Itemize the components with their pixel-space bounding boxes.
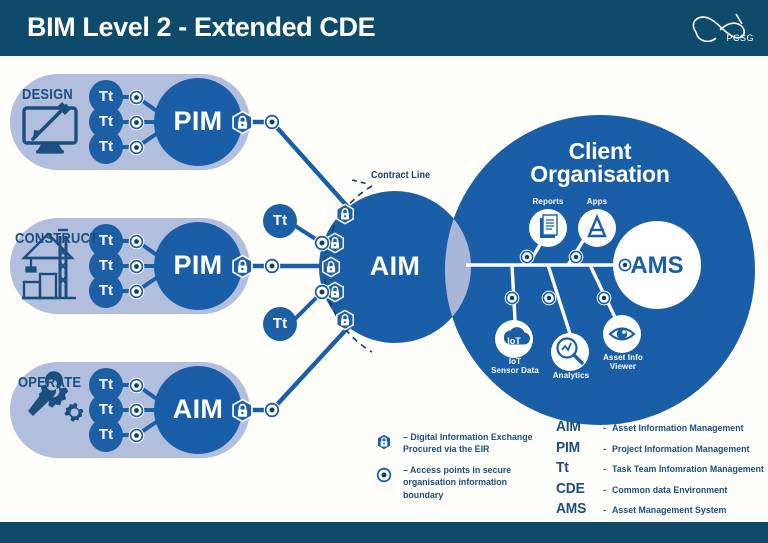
report-document-icon <box>540 215 557 238</box>
logo-wordmark: PCSG <box>686 33 754 43</box>
team-label-free: Tt <box>260 212 300 229</box>
node-caption-asset-info-viewer: Asset Info Viewer <box>594 354 652 372</box>
abbr-key: AIM <box>556 418 599 435</box>
abbr-dash: - <box>603 505 612 516</box>
team-label-free: Tt <box>260 315 300 332</box>
legend-symbols: – Digital Information Exchange Procured … <box>375 432 555 511</box>
diagram-canvas: IoT <box>0 0 768 543</box>
connector-operate-to-aim <box>245 320 355 410</box>
header-bar: BIM Level 2 - Extended CDE PCSG <box>0 0 768 56</box>
team-label: Tt <box>86 88 126 105</box>
abbr-value: Asset Management System <box>612 505 726 516</box>
abbr-row: AIM - Asset Information Management <box>556 418 768 439</box>
contract-line-leader <box>352 180 368 184</box>
pcsg-logo <box>686 6 754 50</box>
abbr-value: Asset Information Management <box>612 423 744 434</box>
abbr-value: Common data Environment <box>612 485 727 496</box>
abbr-dash: - <box>603 423 612 434</box>
abbr-dash: - <box>603 444 612 455</box>
abbr-key: AMS <box>556 500 599 517</box>
node-caption-analytics: Analytics <box>543 372 599 381</box>
client-organisation-title: Client Organisation <box>495 140 705 187</box>
page-title: BIM Level 2 - Extended CDE <box>27 12 375 43</box>
abbr-row: CDE - Common data Environment <box>556 480 768 501</box>
abbr-value: Task Team Infomration Management <box>612 464 764 475</box>
legend-text-lock: – Digital Information Exchange Procured … <box>403 432 544 456</box>
ams-label: AMS <box>617 252 697 280</box>
node-caption-reports: Reports <box>523 198 573 207</box>
lock-badge-icon <box>375 433 393 451</box>
team-label: Tt <box>86 282 126 299</box>
hub-label-construct: PIM <box>158 250 238 281</box>
team-label: Tt <box>86 232 126 249</box>
abbr-key: CDE <box>556 480 599 497</box>
team-label: Tt <box>86 426 126 443</box>
abbr-row: Tt - Task Team Infomration Management <box>556 459 768 480</box>
team-label: Tt <box>86 376 126 393</box>
node-caption-iot: IoT Sensor Data <box>487 358 543 376</box>
hub-label-design: PIM <box>158 106 238 137</box>
node-caption-apps: Apps <box>572 198 622 207</box>
legend-row-access-point: – Access points in secure organisation i… <box>375 465 555 501</box>
team-label: Tt <box>86 138 126 155</box>
abbr-row: AMS - Asset Management System <box>556 500 768 521</box>
access-point-icon <box>375 466 393 484</box>
team-label: Tt <box>86 401 126 418</box>
stage-title-operate: OPERATE <box>18 374 81 391</box>
team-label: Tt <box>86 113 126 130</box>
abbr-row: PIM - Project Information Management <box>556 439 768 460</box>
legend-row-lock: – Digital Information Exchange Procured … <box>375 432 555 456</box>
stage-title-design: DESIGN <box>22 86 73 103</box>
connector-design-to-aim <box>245 122 355 215</box>
aim-label: AIM <box>355 251 435 282</box>
contract-line-label: Contract Line <box>371 170 430 181</box>
abbr-dash: - <box>603 464 612 475</box>
footer-bar <box>0 522 768 543</box>
team-label: Tt <box>86 257 126 274</box>
abbr-key: PIM <box>556 439 599 456</box>
legend-abbreviations: AIM - Asset Information Management PIM -… <box>556 418 768 521</box>
svg-text:IoT: IoT <box>507 336 521 346</box>
legend-text-access-point: – Access points in secure organisation i… <box>403 465 544 501</box>
abbr-key: Tt <box>556 459 599 476</box>
hub-label-operate: AIM <box>158 394 238 425</box>
abbr-dash: - <box>603 485 612 496</box>
abbr-value: Project Information Management <box>612 444 749 455</box>
